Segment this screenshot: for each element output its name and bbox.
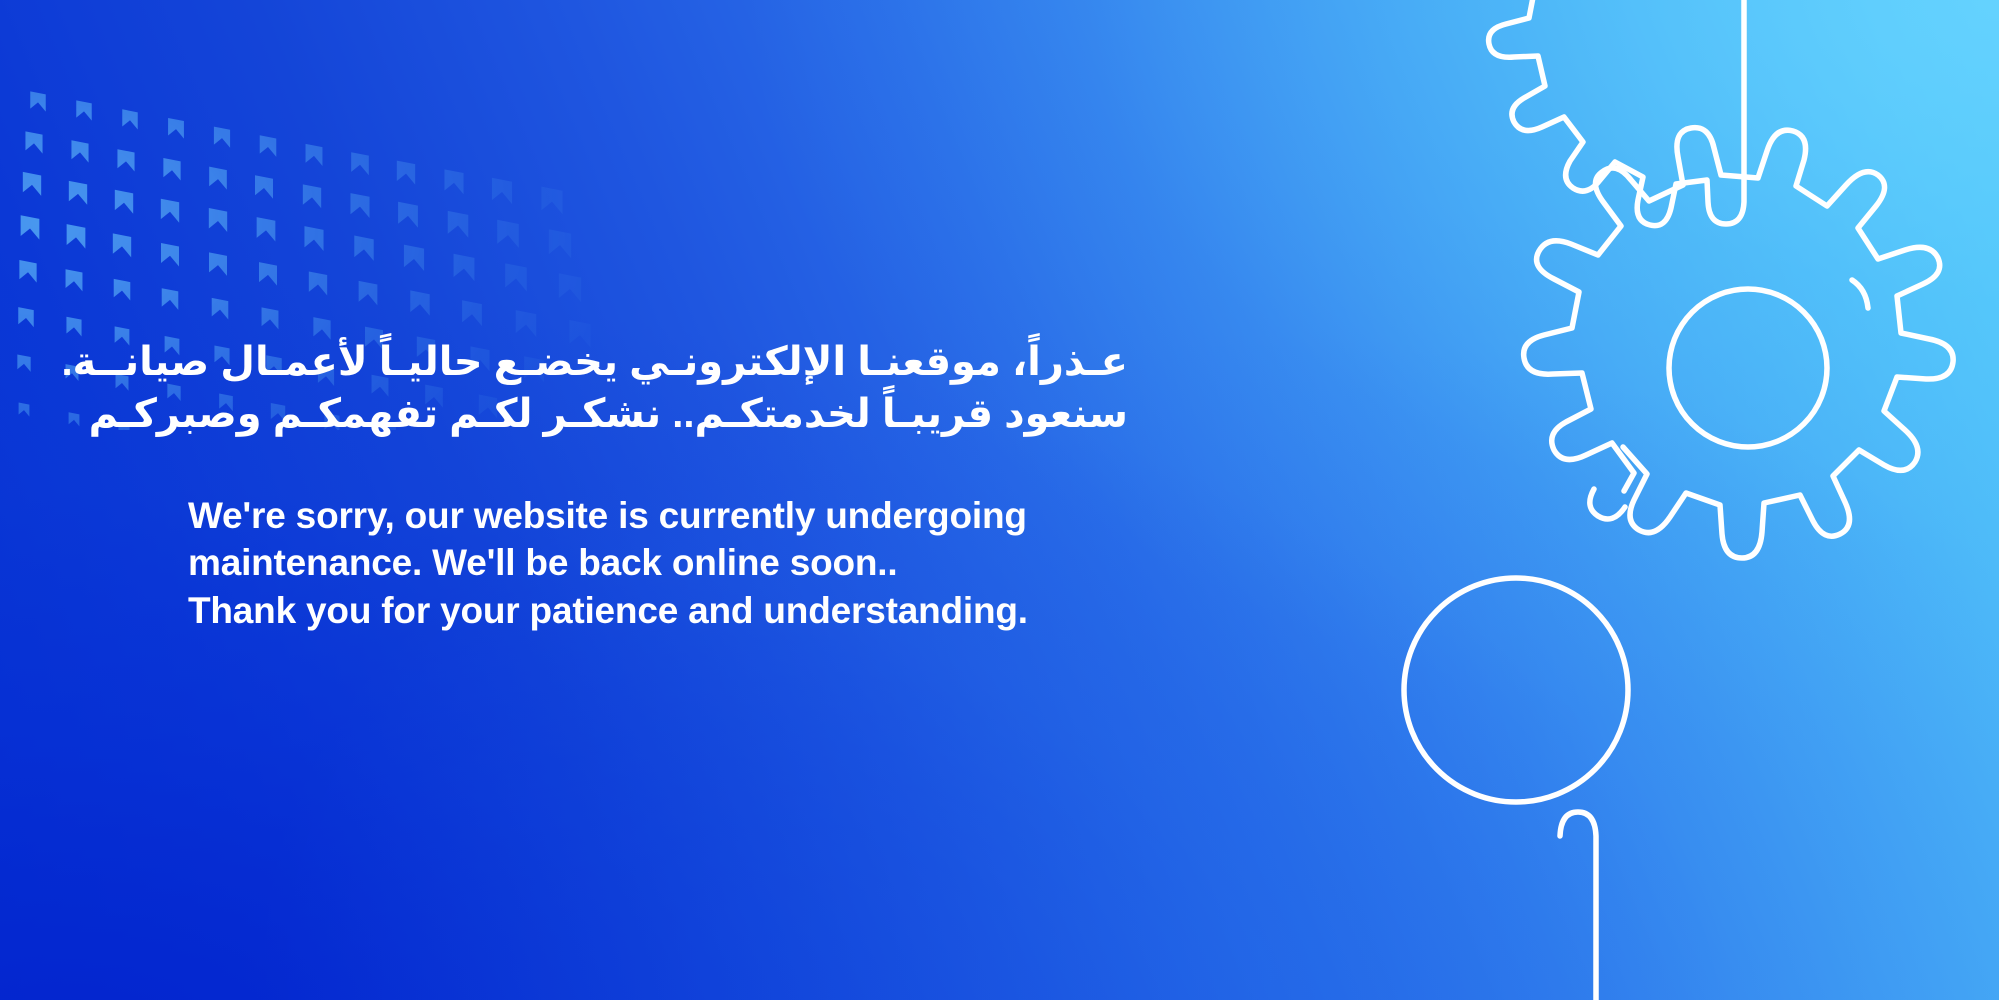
arabic-line-1: عـذراً، موقعنـا الإلكترونـي يخضـع حاليـا… bbox=[188, 336, 1128, 388]
arabic-message: عـذراً، موقعنـا الإلكترونـي يخضـع حاليـا… bbox=[188, 336, 1128, 440]
english-message: We're sorry, our website is currently un… bbox=[188, 440, 1168, 634]
arabic-line-2: سنعود قريبـاً لخدمتكـم.. نشكـر لكـم تفهم… bbox=[188, 388, 1128, 440]
english-line-1: We're sorry, our website is currently un… bbox=[188, 492, 1168, 539]
maintenance-page: عـذراً، موقعنـا الإلكترونـي يخضـع حاليـا… bbox=[0, 0, 1999, 1000]
english-line-2: maintenance. We'll be back online soon.. bbox=[188, 539, 1168, 586]
message-block: عـذراً، موقعنـا الإلكترونـي يخضـع حاليـا… bbox=[188, 336, 1168, 634]
english-line-3: Thank you for your patience and understa… bbox=[188, 587, 1168, 634]
